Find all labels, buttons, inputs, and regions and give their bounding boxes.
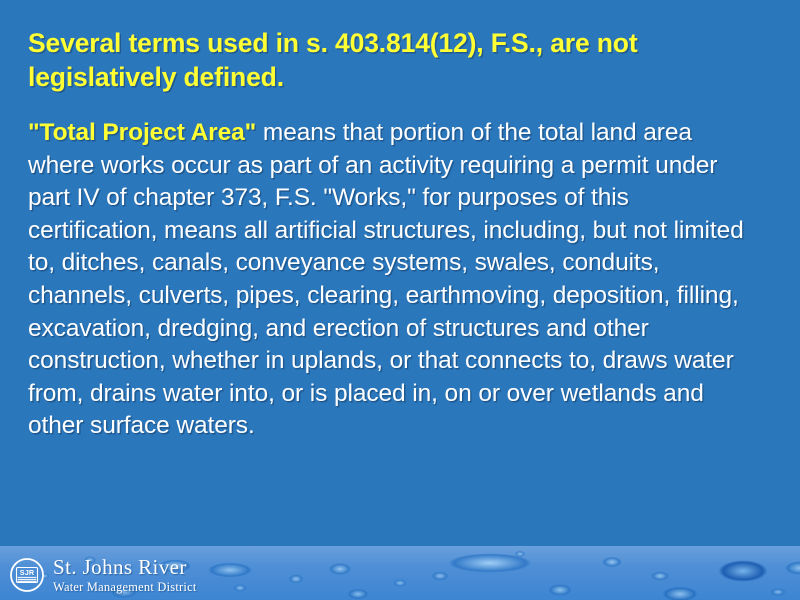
logo-title: St. Johns River bbox=[53, 557, 197, 578]
defined-term: "Total Project Area" bbox=[28, 119, 256, 146]
logo-wordmark: St. Johns River Water Management Distric… bbox=[53, 557, 197, 594]
slide-body-text: "Total Project Area" means that portion … bbox=[28, 117, 744, 443]
svg-text:SJR: SJR bbox=[20, 568, 35, 577]
presentation-slide: Several terms used in s. 403.814(12), F.… bbox=[0, 0, 800, 600]
definition-text: means that portion of the total land are… bbox=[28, 119, 744, 439]
organization-logo: SJR St. Johns River Water Management Dis… bbox=[9, 557, 197, 594]
sjrwmd-circle-emblem-icon: SJR bbox=[9, 557, 45, 593]
slide-title: Several terms used in s. 403.814(12), F.… bbox=[28, 26, 758, 94]
logo-subtitle: Water Management District bbox=[53, 581, 197, 593]
